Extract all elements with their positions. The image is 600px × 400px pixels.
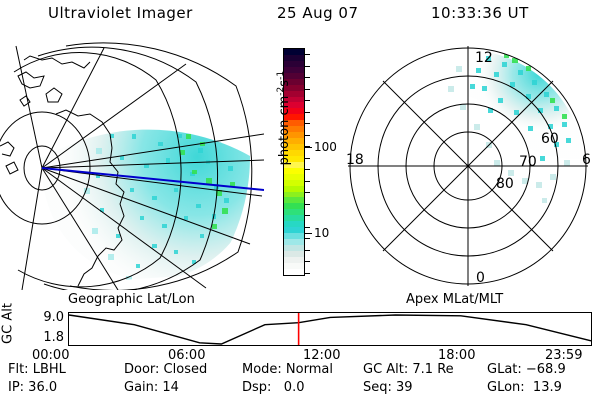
mlt-dial-svg: 12 18 6 0 60 70 80: [336, 38, 600, 290]
colorbar-minor-tick: [305, 77, 310, 78]
status-dsp: Dsp: 0.0: [242, 380, 305, 395]
colorbar-minor-tick: [305, 192, 310, 193]
colorbar-minor-tick: [305, 100, 310, 101]
orbit-x-tick-label: 06:00: [168, 348, 205, 363]
orbit-plot-box[interactable]: [68, 312, 592, 346]
colorbar-units-sup1: -2: [276, 87, 286, 96]
colorbar-tick-label: 100: [314, 142, 337, 152]
colorbar-minor-tick: [305, 273, 310, 274]
magnetic-dial-panel[interactable]: 12 18 6 0 60 70 80: [336, 38, 600, 290]
orbit-plot-svg: [68, 312, 592, 346]
colorbar-ticks: 10010: [305, 48, 336, 276]
status-gain: Gain: 14: [124, 380, 179, 395]
colorbar-minor-tick: [305, 227, 310, 228]
orbit-y-tick-high: 9.0: [30, 310, 64, 325]
colorbar-units-sup2: -1: [276, 71, 286, 80]
orbit-y-tick-low: 1.8: [30, 330, 64, 345]
mlt-label-18: 18: [346, 152, 364, 168]
colorbar-minor-tick: [305, 123, 310, 124]
colorbar-tick-label: 10: [314, 228, 329, 238]
orbit-x-tick-label: 00:00: [32, 348, 69, 363]
mlat-label-70: 70: [519, 154, 537, 170]
colorbar-minor-tick: [305, 238, 310, 239]
colorbar-minor-tick: [305, 215, 310, 216]
colorbar: 10010 photon cm-2s-1: [252, 48, 336, 280]
uvi-display-root: Ultraviolet Imager 25 Aug 07 10:33:36 UT: [0, 0, 600, 400]
orbit-x-tick-label: 12:00: [303, 348, 340, 363]
status-panel: Flt: LBHL Door: Closed Mode: Normal GC A…: [0, 362, 600, 400]
colorbar-units-text: photon cm: [277, 96, 292, 166]
colorbar-minor-tick: [305, 261, 310, 262]
status-glat: GLat: −68.9: [487, 362, 566, 377]
geographic-panel-caption: Geographic Lat/Lon: [68, 292, 195, 307]
header-bar: Ultraviolet Imager 25 Aug 07 10:33:36 UT: [0, 4, 600, 30]
colorbar-units-mid: s: [277, 80, 292, 87]
observation-time: 10:33:36 UT: [431, 4, 529, 22]
mlt-label-0: 0: [476, 270, 485, 286]
colorbar-minor-tick: [305, 158, 310, 159]
instrument-title: Ultraviolet Imager: [48, 4, 193, 22]
status-mode: Mode: Normal: [242, 362, 333, 377]
colorbar-minor-tick: [305, 89, 310, 90]
status-row-1: Flt: LBHL Door: Closed Mode: Normal GC A…: [0, 362, 600, 380]
colorbar-major-tick: [305, 147, 312, 148]
colorbar-minor-tick: [305, 181, 310, 182]
status-filter: Flt: LBHL: [8, 362, 66, 377]
colorbar-minor-tick: [305, 250, 310, 251]
status-row-2: IP: 36.0 Gain: 14 Dsp: 0.0 Seq: 39 GLon:…: [0, 380, 600, 398]
mlat-label-60: 60: [541, 131, 559, 147]
colorbar-minor-tick: [305, 112, 310, 113]
orbit-y-axis-label: GC Alt: [1, 299, 16, 349]
status-door: Door: Closed: [124, 362, 207, 377]
colorbar-minor-tick: [305, 66, 310, 67]
observation-date: 25 Aug 07: [277, 4, 359, 22]
colorbar-minor-tick: [305, 54, 310, 55]
colorbar-minor-tick: [305, 169, 310, 170]
colorbar-axis-label: photon cm-2s-1: [276, 63, 292, 173]
status-glon: GLon: 13.9: [487, 380, 562, 395]
geographic-plot-svg: [0, 38, 264, 290]
orbit-altitude-strip[interactable]: GC Alt 9.0 1.8 00:0006:0012:0018:0023:59: [0, 306, 600, 356]
geographic-image-panel[interactable]: [0, 38, 264, 290]
orbit-x-tick-label: 18:00: [438, 348, 475, 363]
status-gc-alt: GC Alt: 7.1 Re: [363, 362, 454, 377]
colorbar-major-tick: [305, 233, 312, 234]
magnetic-panel-caption: Apex MLat/MLT: [406, 292, 503, 307]
colorbar-minor-tick: [305, 204, 310, 205]
status-seq: Seq: 39: [363, 380, 413, 395]
mlt-spokes: [348, 46, 588, 286]
mlat-label-80: 80: [496, 176, 514, 192]
mlt-label-12: 12: [475, 50, 493, 66]
orbit-x-tick-label: 23:59: [545, 348, 582, 363]
status-ip: IP: 36.0: [8, 380, 57, 395]
mlt-label-6: 6: [582, 152, 591, 168]
colorbar-segment: [284, 269, 304, 275]
orbit-altitude-trace: [69, 315, 591, 344]
colorbar-minor-tick: [305, 135, 310, 136]
